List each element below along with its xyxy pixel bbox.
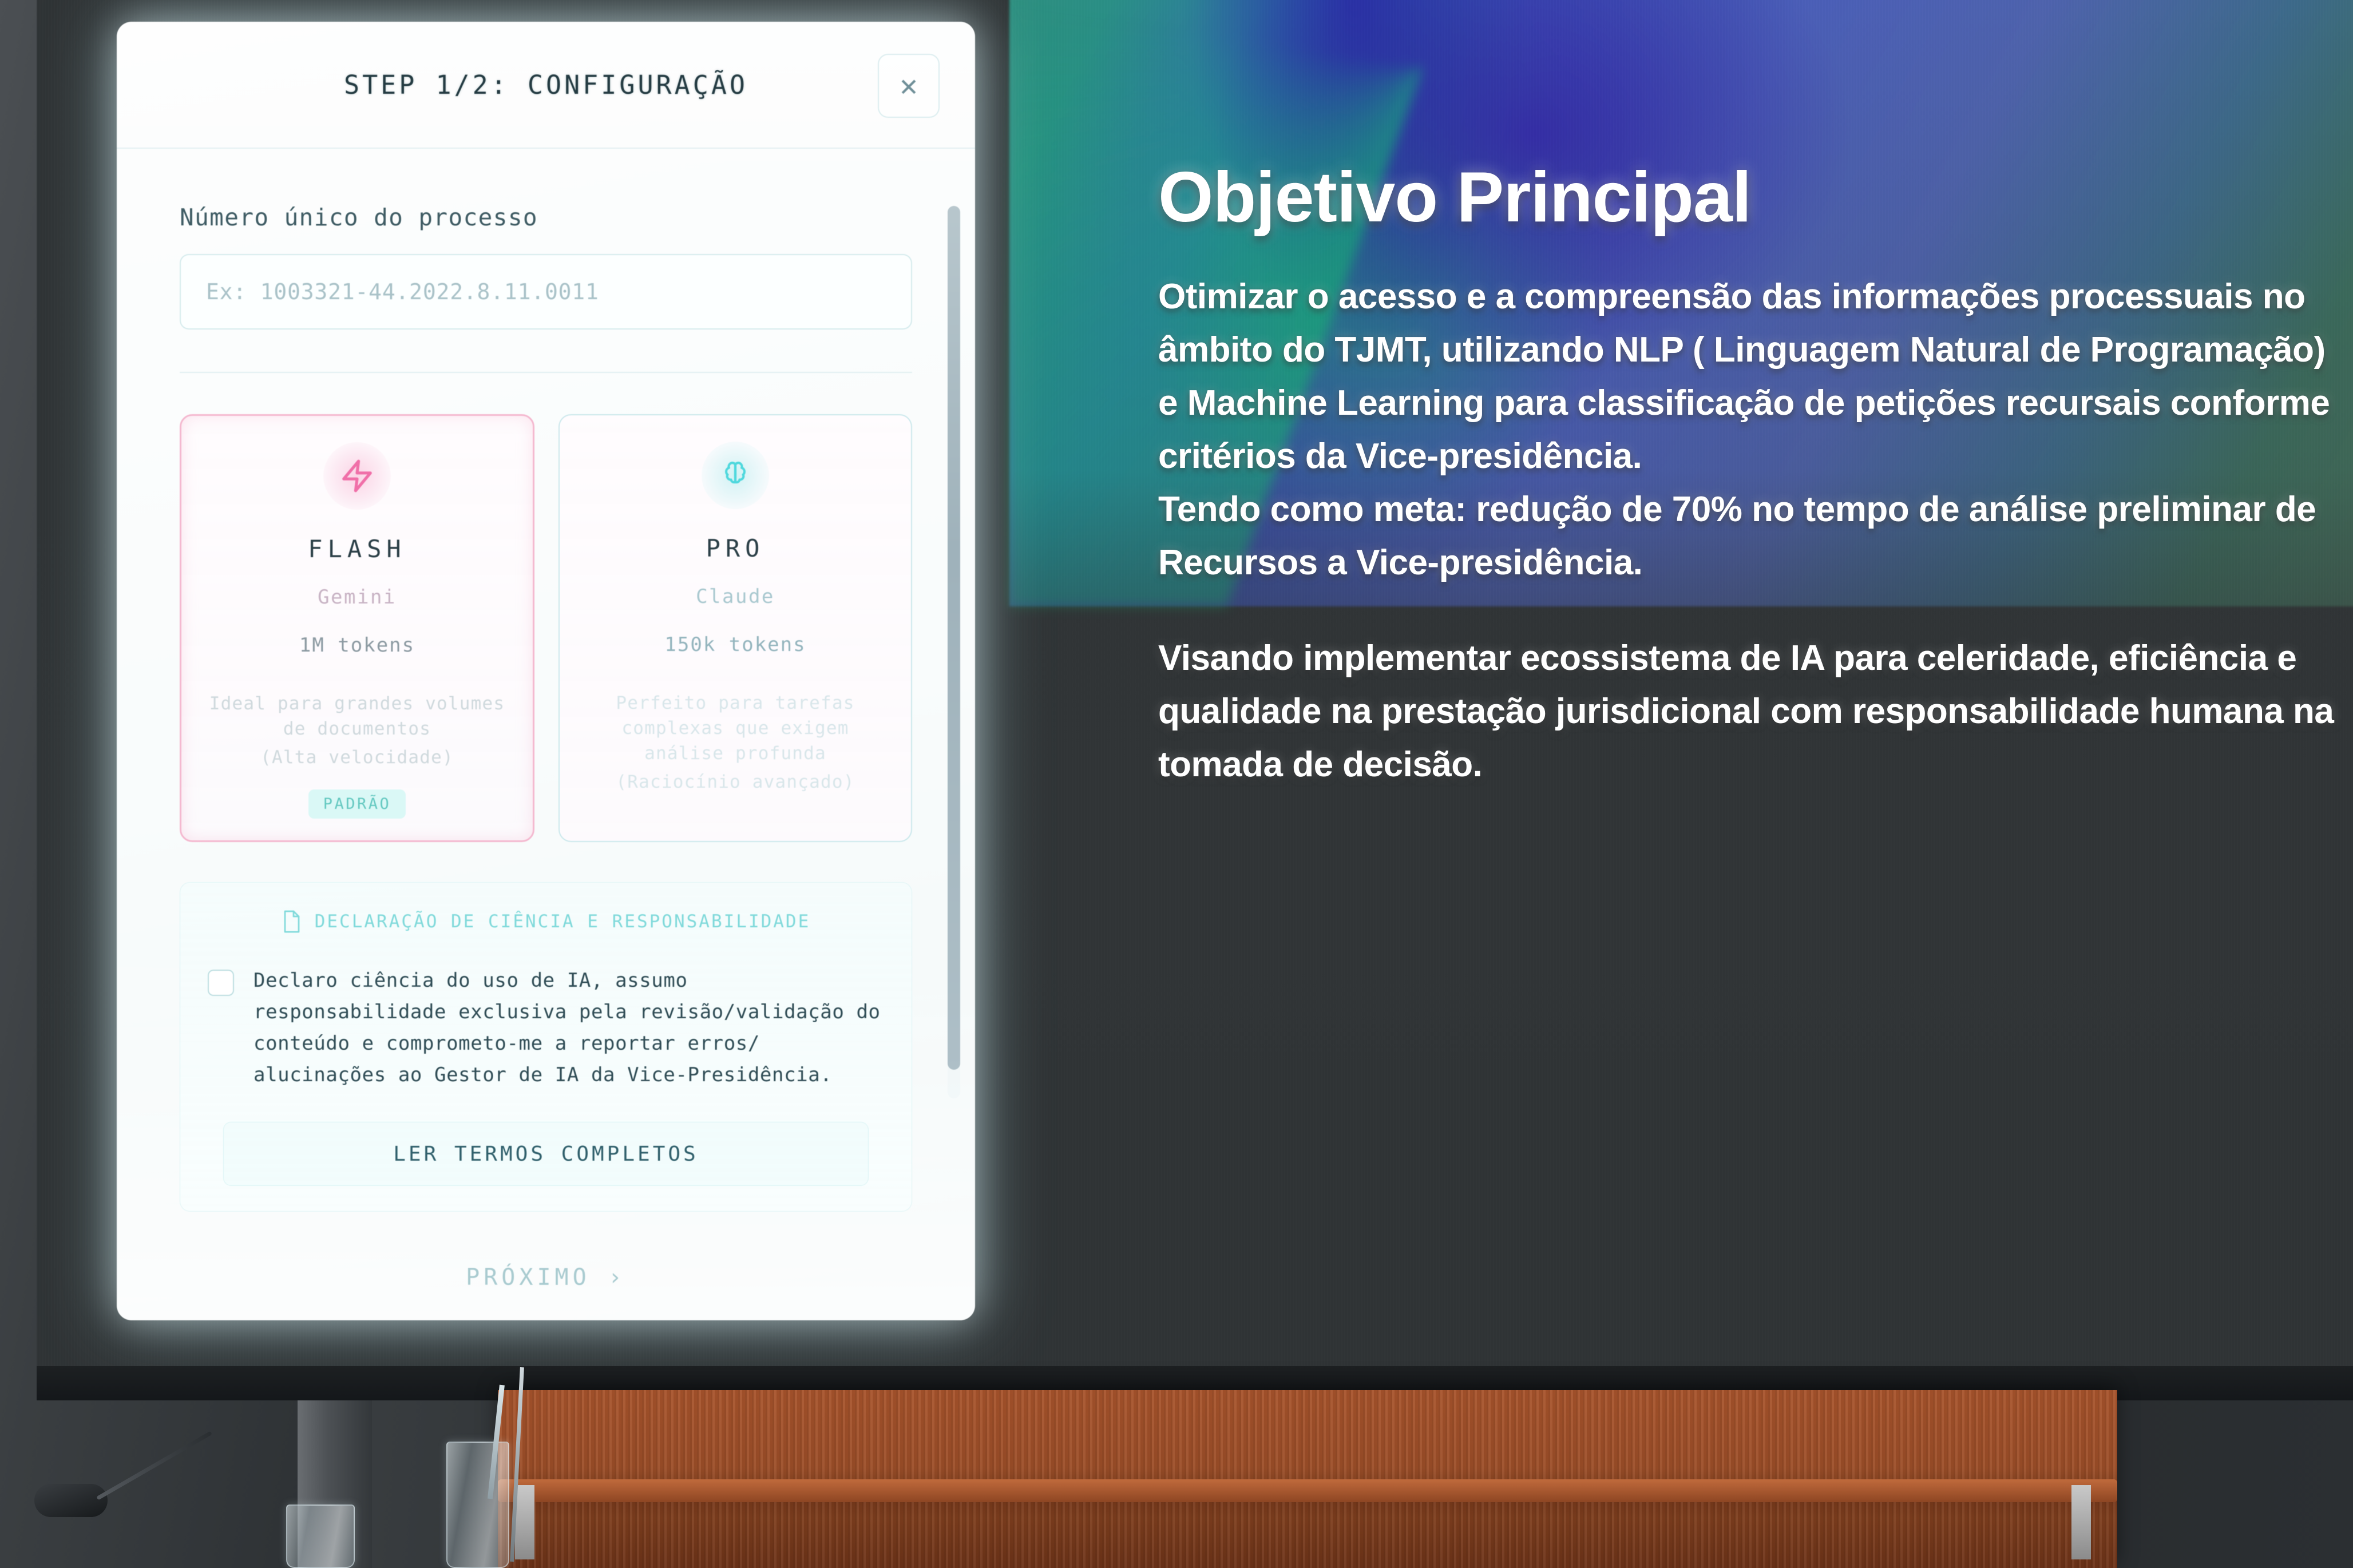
declaration-section: DECLARAÇÃO DE CIÊNCIA E RESPONSABILIDADE…: [180, 882, 912, 1212]
water-glass: [286, 1505, 355, 1568]
slide-paragraph-1: Otimizar o acesso e a compreensão das in…: [1158, 270, 2348, 483]
slide-title: Objetivo Principal: [1158, 160, 2348, 235]
lightning-bolt-icon: [323, 442, 391, 510]
model-card-pro[interactable]: PRO Claude 150k tokens Perfeito para tar…: [558, 414, 912, 842]
model-card-flash-badge: PADRÃO: [308, 789, 406, 819]
close-icon[interactable]: ✕: [878, 54, 940, 118]
process-number-placeholder: Ex: 1003321-44.2022.8.11.0011: [206, 279, 599, 304]
brain-icon: [702, 442, 769, 509]
next-button[interactable]: PRÓXIMO ›: [180, 1264, 912, 1291]
document-icon: [282, 909, 302, 934]
declaration-heading: DECLARAÇÃO DE CIÊNCIA E RESPONSABILIDADE: [315, 911, 811, 932]
model-card-flash-desc-1: Ideal para grandes volumes: [199, 691, 516, 716]
model-card-flash-desc-2: de documentos: [199, 716, 516, 741]
model-card-flash[interactable]: FLASH Gemini 1M tokens Ideal para grande…: [180, 414, 534, 842]
modal-scrollbar-track[interactable]: [948, 206, 960, 1098]
modal-header: STEP 1/2: CONFIGURAÇÃO ✕: [117, 22, 975, 149]
model-selection-group: FLASH Gemini 1M tokens Ideal para grande…: [180, 414, 912, 842]
screenshot-stage: Objetivo Principal Otimizar o acesso e a…: [0, 0, 2353, 1568]
model-card-pro-vendor: Claude: [577, 585, 894, 608]
declaration-checkbox[interactable]: [208, 970, 234, 996]
modal-body: Número único do processo Ex: 1003321-44.…: [117, 149, 975, 1291]
slide-paragraph-2: Tendo como meta: redução de 70% no tempo…: [1158, 483, 2348, 589]
model-card-flash-name: FLASH: [199, 535, 516, 563]
projection-screen: Objetivo Principal Otimizar o acesso e a…: [37, 0, 2353, 1382]
model-card-pro-desc-1: Perfeito para tarefas: [577, 690, 894, 716]
microphone: [34, 1476, 177, 1527]
microphone-head: [34, 1484, 108, 1517]
slide-content: Objetivo Principal Otimizar o acesso e a…: [1158, 160, 2348, 791]
model-card-pro-name: PRO: [577, 534, 894, 562]
process-number-label: Número único do processo: [180, 204, 912, 231]
model-card-pro-note: (Raciocínio avançado): [577, 769, 894, 795]
tall-glass: [446, 1442, 509, 1568]
model-card-pro-desc-3: análise profunda: [577, 741, 894, 766]
modal-title: STEP 1/2: CONFIGURAÇÃO: [344, 70, 748, 100]
process-number-input[interactable]: Ex: 1003321-44.2022.8.11.0011: [180, 254, 912, 330]
declaration-consent-row[interactable]: Declaro ciência do uso de IA, assumo res…: [208, 965, 884, 1091]
model-card-flash-vendor: Gemini: [199, 586, 516, 609]
model-card-pro-desc-2: complexas que exigem: [577, 716, 894, 741]
read-full-terms-button[interactable]: LER TERMOS COMPLETOS: [223, 1122, 869, 1186]
modal-scrollbar-thumb[interactable]: [948, 206, 960, 1070]
model-card-pro-tokens: 150k tokens: [577, 633, 894, 656]
desk-top-surface: [498, 1479, 2117, 1502]
model-card-flash-tokens: 1M tokens: [199, 634, 516, 657]
desk-leg: [2071, 1485, 2091, 1559]
desk-leg: [515, 1485, 534, 1559]
configuration-modal: STEP 1/2: CONFIGURAÇÃO ✕ Número único do…: [117, 22, 975, 1320]
slide-paragraph-3: Visando implementar ecossistema de IA pa…: [1158, 632, 2348, 791]
declaration-heading-row: DECLARAÇÃO DE CIÊNCIA E RESPONSABILIDADE: [208, 909, 884, 934]
model-card-flash-note: (Alta velocidade): [199, 745, 516, 770]
declaration-text: Declaro ciência do uso de IA, assumo res…: [253, 965, 884, 1091]
section-divider: [180, 372, 912, 373]
